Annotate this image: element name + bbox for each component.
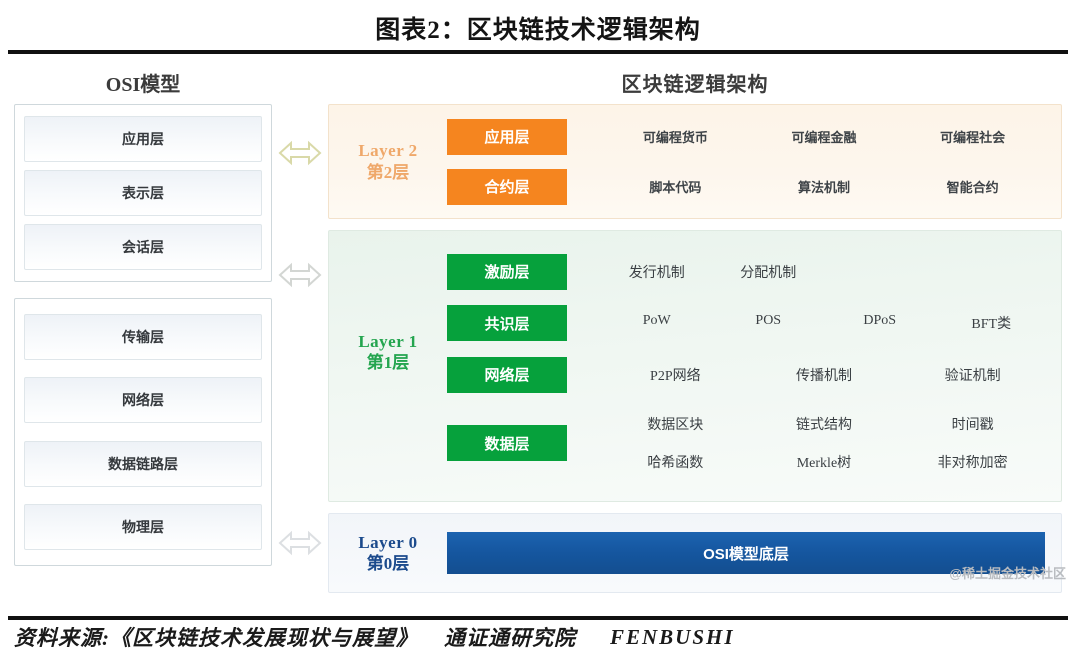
item-programmable-currency: 可编程货币	[601, 127, 750, 146]
item-hash-function: 哈希函数	[601, 452, 750, 472]
layer-2-application-items: 可编程货币 可编程金融 可编程社会	[601, 127, 1047, 146]
figure-title: 图表2：区块链技术逻辑架构	[0, 0, 1076, 50]
osi-layer-presentation[interactable]: 表示层	[24, 170, 262, 216]
layer-1-incentive-items: 发行机制 分配机制	[601, 262, 1047, 282]
layer-1-panel: Layer 1 第1层 激励层 发行机制 分配机制 共识层	[328, 230, 1062, 502]
item-asymmetric-encryption: 非对称加密	[898, 452, 1047, 472]
item-bft: BFT类	[936, 313, 1048, 333]
layer-1-row-data: 数据层 数据区块 链式结构 时间戳 哈希函数 Merkle树 非对称加密	[447, 405, 1047, 481]
column-headings: OSI模型 区块链逻辑架构	[14, 64, 1062, 100]
chip-application-layer[interactable]: 应用层	[447, 119, 567, 155]
item-script-code: 脚本代码	[601, 177, 750, 196]
osi-model-column: 应用层 表示层 会话层 传输层 网络层 数据链路层 物理层	[14, 100, 272, 610]
source-footer: 资料来源:《区块链技术发展现状与展望》 通证通研究院 FENBUSHI	[0, 620, 1076, 654]
item-merkle-tree: Merkle树	[750, 452, 899, 472]
layer-1-row-incentive: 激励层 发行机制 分配机制	[447, 251, 1047, 293]
double-headed-arrow-icon	[278, 528, 322, 558]
item-programmable-society: 可编程社会	[898, 127, 1047, 146]
chip-consensus-layer[interactable]: 共识层	[447, 305, 567, 341]
item-data-block: 数据区块	[601, 414, 750, 434]
osi-layer-network[interactable]: 网络层	[24, 377, 262, 423]
layer-2-label-zh: 第2层	[367, 162, 410, 183]
layer-1-row-network: 网络层 P2P网络 传播机制 验证机制	[447, 354, 1047, 396]
osi-layer-session[interactable]: 会话层	[24, 224, 262, 270]
layer-1-label: Layer 1 第1层	[329, 231, 447, 501]
layer-2-label-en: Layer 2	[358, 140, 417, 161]
layer-2-row-application: 应用层 可编程货币 可编程金融 可编程社会	[447, 116, 1047, 158]
osi-layer-application[interactable]: 应用层	[24, 116, 262, 162]
layer-2-contract-items: 脚本代码 算法机制 智能合约	[601, 177, 1047, 196]
watermark: @稀土掘金技术社区	[949, 563, 1066, 582]
osi-layer-transport[interactable]: 传输层	[24, 314, 262, 360]
item-pos: POS	[713, 313, 825, 333]
layer-1-row-consensus: 共识层 PoW POS DPoS BFT类	[447, 302, 1047, 344]
item-spacer	[936, 262, 1048, 282]
layer-1-body: 激励层 发行机制 分配机制 共识层 PoW POS	[447, 231, 1061, 501]
item-propagation-mechanism: 传播机制	[750, 365, 899, 385]
item-chain-structure: 链式结构	[750, 414, 899, 434]
item-distribution-mechanism: 分配机制	[713, 262, 825, 282]
layer-0-label-en: Layer 0	[358, 532, 417, 553]
item-timestamp: 时间戳	[898, 414, 1047, 434]
item-dpos: DPoS	[824, 313, 936, 333]
item-p2p-network: P2P网络	[601, 365, 750, 385]
diagram-board: OSI模型 区块链逻辑架构 应用层 表示层 会话层 传输层 网络层 数据链路层 …	[0, 54, 1076, 614]
item-programmable-finance: 可编程金融	[750, 127, 899, 146]
item-issuance-mechanism: 发行机制	[601, 262, 713, 282]
double-headed-arrow-icon	[278, 138, 322, 168]
layer-0-label: Layer 0 第0层	[329, 514, 447, 592]
osi-heading: OSI模型	[14, 68, 272, 97]
layer-1-label-zh: 第1层	[367, 352, 410, 373]
diagram-columns: 应用层 表示层 会话层 传输层 网络层 数据链路层 物理层	[14, 100, 1062, 610]
layer-2-body: 应用层 可编程货币 可编程金融 可编程社会 合约层 脚本代码 算法机制 智能合约	[447, 105, 1061, 218]
layer-2-panel: Layer 2 第2层 应用层 可编程货币 可编程金融 可编程社会 合约层	[328, 104, 1062, 219]
layer-2-label: Layer 2 第2层	[329, 105, 447, 218]
layer-1-data-items-row-2: 哈希函数 Merkle树 非对称加密	[601, 443, 1047, 481]
osi-group-upper: 应用层 表示层 会话层	[14, 104, 272, 282]
source-organization: 通证通研究院	[444, 622, 576, 652]
item-algorithm-mechanism: 算法机制	[750, 177, 899, 196]
osi-layer-datalink[interactable]: 数据链路层	[24, 441, 262, 487]
osi-group-lower: 传输层 网络层 数据链路层 物理层	[14, 298, 272, 566]
double-headed-arrow-icon	[278, 260, 322, 290]
item-spacer	[824, 262, 936, 282]
chip-data-layer[interactable]: 数据层	[447, 425, 567, 461]
chip-network-layer[interactable]: 网络层	[447, 357, 567, 393]
layer-1-network-items: P2P网络 传播机制 验证机制	[601, 365, 1047, 385]
chip-contract-layer[interactable]: 合约层	[447, 169, 567, 205]
item-verification-mechanism: 验证机制	[898, 365, 1047, 385]
layer-0-label-zh: 第0层	[367, 553, 410, 574]
layer-1-data-items-row-1: 数据区块 链式结构 时间戳	[601, 405, 1047, 443]
blockchain-column: Layer 2 第2层 应用层 可编程货币 可编程金融 可编程社会 合约层	[328, 100, 1062, 610]
layer-1-data-items: 数据区块 链式结构 时间戳 哈希函数 Merkle树 非对称加密	[601, 405, 1047, 481]
mapping-arrows	[272, 100, 328, 610]
item-smart-contract: 智能合约	[898, 177, 1047, 196]
layer-1-consensus-items: PoW POS DPoS BFT类	[601, 313, 1047, 333]
layer-2-row-contract: 合约层 脚本代码 算法机制 智能合约	[447, 166, 1047, 208]
osi-layer-physical[interactable]: 物理层	[24, 504, 262, 550]
chip-incentive-layer[interactable]: 激励层	[447, 254, 567, 290]
source-brand: FENBUSHI	[610, 625, 735, 650]
source-text: 资料来源:《区块链技术发展现状与展望》	[14, 622, 418, 652]
blockchain-heading: 区块链逻辑架构	[328, 68, 1062, 97]
layer-1-label-en: Layer 1	[358, 331, 417, 352]
item-pow: PoW	[601, 313, 713, 333]
